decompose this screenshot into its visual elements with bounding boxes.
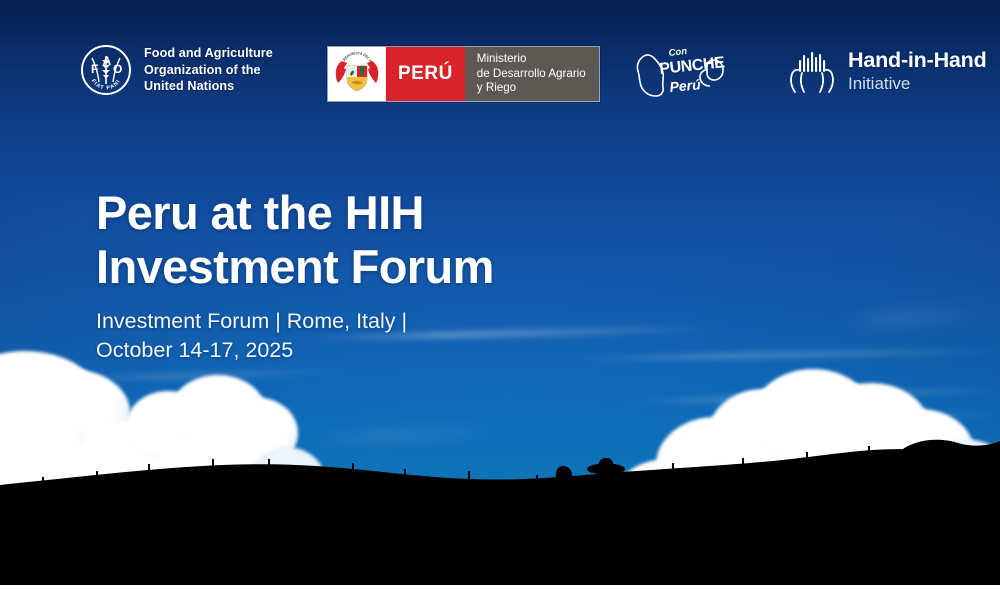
hill-ridge-silhouette: [0, 359, 1000, 589]
svg-text:Perú: Perú: [669, 76, 702, 95]
logo-con-punche-peru: Con PUNCHE Perú: [630, 40, 730, 108]
logo-peru-ministry: REPUBLICA DEL PERU: [327, 46, 600, 102]
logo-fao: F A O FIAT PANIS Food and Agriculture Or…: [80, 44, 273, 96]
fao-organization-name: Food and Agriculture Organization of the…: [144, 45, 273, 95]
ministry-name: Ministerio de Desarrollo Agrario y Riego: [465, 47, 599, 101]
figure-person-with-hat: [578, 456, 634, 562]
svg-text:A: A: [103, 54, 112, 68]
event-details: Investment Forum | Rome, Italy | October…: [96, 307, 494, 364]
bottom-edge-strip: [0, 585, 1000, 589]
event-promo-banner: F A O FIAT PANIS Food and Agriculture Or…: [0, 0, 1000, 589]
hand-in-hand-subtitle: Initiative: [848, 75, 987, 93]
svg-text:F: F: [91, 62, 98, 76]
ministry-country-label: PERÚ: [386, 47, 465, 101]
hands-holding-data-bars-icon: [787, 46, 837, 96]
partner-logo-bar: F A O FIAT PANIS Food and Agriculture Or…: [0, 0, 1000, 140]
svg-text:REPUBLICA DEL PERU: REPUBLICA DEL PERU: [333, 52, 373, 64]
hand-in-hand-title: Hand-in-Hand: [848, 49, 987, 72]
headline-block: Peru at the HIH Investment Forum Investm…: [96, 186, 494, 364]
page-title: Peru at the HIH Investment Forum: [96, 186, 494, 293]
fao-emblem-icon: F A O FIAT PANIS: [80, 44, 132, 96]
peru-coat-of-arms-icon: REPUBLICA DEL PERU: [328, 47, 386, 101]
con-punche-peru-logo-icon: Con PUNCHE Perú: [630, 40, 730, 108]
logo-hand-in-hand-initiative: Hand-in-Hand Initiative: [787, 46, 987, 96]
svg-text:Con: Con: [668, 46, 688, 59]
svg-text:O: O: [113, 62, 122, 76]
